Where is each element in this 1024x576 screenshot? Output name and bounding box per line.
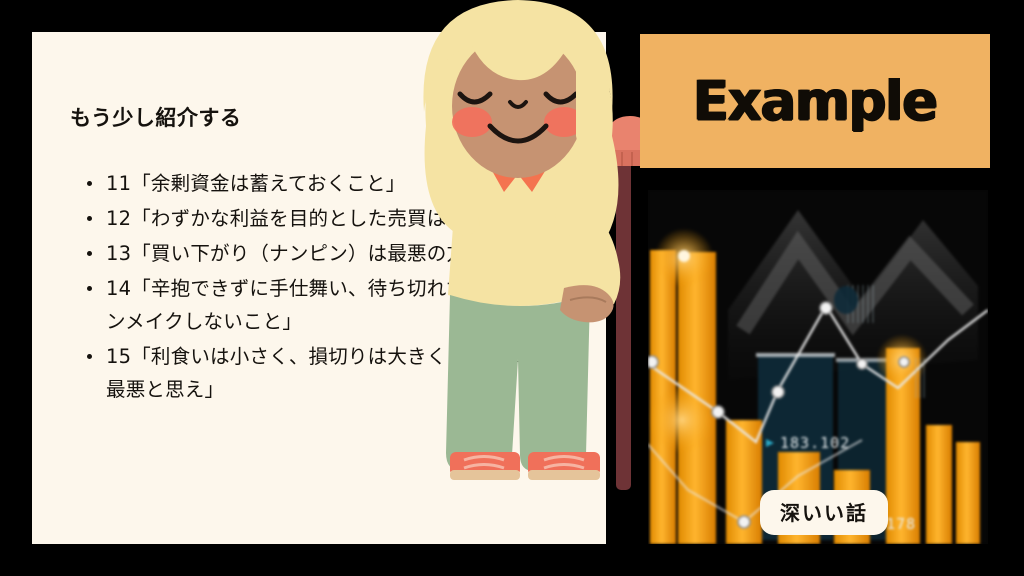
page-title: もう少し紹介する [70, 102, 241, 132]
example-label: Example [693, 69, 937, 133]
list-item: 15「利食いは小さく、損切りは大きくという事態は最悪と思え」 [84, 340, 584, 406]
bullet-list: 11「余剰資金は蓄えておくこと」 12「わずかな利益を目的とした売買は行わない」… [84, 167, 584, 408]
list-item: 14「辛抱できずに手仕舞い、待ち切れずにポジションメイクしないこと」 [84, 272, 584, 338]
list-item: 12「わずかな利益を目的とした売買は行わない」 [84, 202, 584, 235]
list-item: 13「買い下がり（ナンピン）は最悪の方法である」 [84, 237, 584, 270]
example-banner: Example [640, 34, 990, 168]
status-badge: 深いい話 [760, 490, 888, 535]
svg-text:183.102: 183.102 [780, 434, 850, 452]
list-item: 11「余剰資金は蓄えておくこと」 [84, 167, 584, 200]
slide-canvas: もう少し紹介する 11「余剰資金は蓄えておくこと」 12「わずかな利益を目的とし… [0, 0, 1024, 576]
content-card: もう少し紹介する 11「余剰資金は蓄えておくこと」 12「わずかな利益を目的とし… [32, 32, 606, 544]
cane-icon [604, 116, 648, 490]
